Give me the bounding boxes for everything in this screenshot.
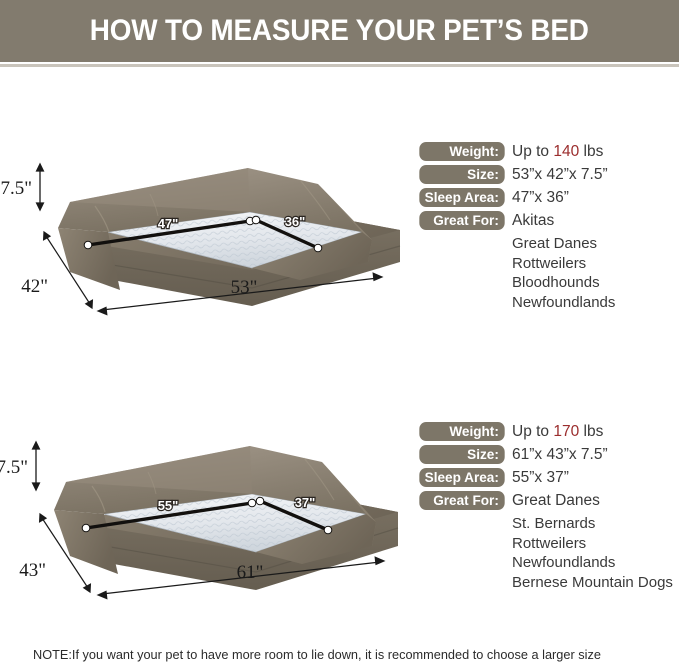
- sleep-area-value: 47”x 36”: [506, 188, 569, 208]
- depth-dimension-label-large: 42": [21, 276, 48, 297]
- height-dimension-label-xlarge: 7.5": [0, 457, 28, 478]
- size-value: 61”x 43”x 7.5”: [506, 445, 608, 465]
- sleep-width-bar-label-xlarge: 55": [158, 498, 179, 513]
- large-bed-illustration: 47" 36" 7.5" 42": [0, 120, 410, 335]
- breed-item: Rottweilers: [512, 254, 676, 274]
- height-dimension-label-large: 7.5": [0, 178, 32, 199]
- weight-suffix: lbs: [579, 143, 603, 160]
- weight-label: Weight:: [419, 142, 504, 161]
- weight-value: Up to 140 lbs: [506, 142, 603, 162]
- spec-row-great-for: Great For: Great Danes: [418, 491, 676, 513]
- spec-panel-xlarge: Weight: Up to 170 lbs Size: 61”x 43”x 7.…: [418, 422, 676, 592]
- breed-item: Rottweilers: [512, 534, 676, 554]
- sleep-area-value: 55”x 37”: [506, 468, 569, 488]
- spec-row-sleep-area: Sleep Area: 55”x 37”: [418, 468, 676, 490]
- spec-row-sleep-area: Sleep Area: 47”x 36”: [418, 188, 676, 210]
- breed-item: Great Danes: [506, 491, 600, 511]
- weight-suffix: lbs: [579, 423, 603, 440]
- weight-prefix: Up to: [512, 143, 553, 160]
- spec-row-weight: Weight: Up to 170 lbs: [418, 422, 676, 444]
- breed-item: Great Danes: [512, 234, 676, 254]
- spec-row-great-for: Great For: Akitas: [418, 211, 676, 233]
- great-for-label: Great For:: [419, 211, 504, 230]
- spec-row-size: Size: 53”x 42”x 7.5”: [418, 165, 676, 187]
- xlarge-bed-illustration: 55" 37" 7.5" 43": [0, 400, 410, 615]
- weight-label: Weight:: [419, 422, 504, 441]
- page-header-band: HOW TO MEASURE YOUR PET’S BED: [0, 0, 679, 62]
- page-title: HOW TO MEASURE YOUR PET’S BED: [90, 14, 589, 48]
- bed-size-section-xlarge: 55" 37" 7.5" 43": [0, 400, 679, 625]
- breed-item: Bloodhounds: [512, 273, 676, 293]
- header-divider: [0, 64, 679, 67]
- sleep-depth-bar-label-large: 36": [285, 214, 306, 229]
- breed-item: Bernese Mountain Dogs: [512, 573, 676, 593]
- sleep-depth-bar-label-xlarge: 37": [295, 495, 316, 510]
- spec-row-size: Size: 61”x 43”x 7.5”: [418, 445, 676, 467]
- great-for-label: Great For:: [419, 491, 504, 510]
- sleep-area-label: Sleep Area:: [419, 468, 504, 487]
- weight-prefix: Up to: [512, 423, 553, 440]
- size-value: 53”x 42”x 7.5”: [506, 165, 608, 185]
- sleep-width-bar-label-large: 47": [158, 216, 179, 231]
- depth-dimension-label-xlarge: 43": [19, 560, 46, 581]
- size-label: Size:: [419, 165, 504, 184]
- breed-item: St. Bernards: [512, 514, 676, 534]
- width-dimension-label-xlarge: 61": [237, 562, 264, 583]
- weight-value: Up to 170 lbs: [506, 422, 603, 442]
- size-label: Size:: [419, 445, 504, 464]
- breed-item: Newfoundlands: [512, 553, 676, 573]
- spec-panel-large: Weight: Up to 140 lbs Size: 53”x 42”x 7.…: [418, 142, 676, 312]
- pet-bed-size-guide-page: { "header": { "title": "HOW TO MEASURE Y…: [0, 0, 679, 668]
- weight-number: 170: [553, 423, 579, 440]
- bed-size-section-large: 47" 36" 7.5" 42": [0, 120, 679, 340]
- footer-note: NOTE:If you want your pet to have more r…: [33, 647, 601, 662]
- breed-item: Newfoundlands: [512, 293, 676, 313]
- breed-item: Akitas: [506, 211, 554, 231]
- weight-number: 140: [553, 143, 579, 160]
- width-dimension-label-large: 53": [231, 277, 258, 298]
- spec-row-weight: Weight: Up to 140 lbs: [418, 142, 676, 164]
- sleep-area-label: Sleep Area:: [419, 188, 504, 207]
